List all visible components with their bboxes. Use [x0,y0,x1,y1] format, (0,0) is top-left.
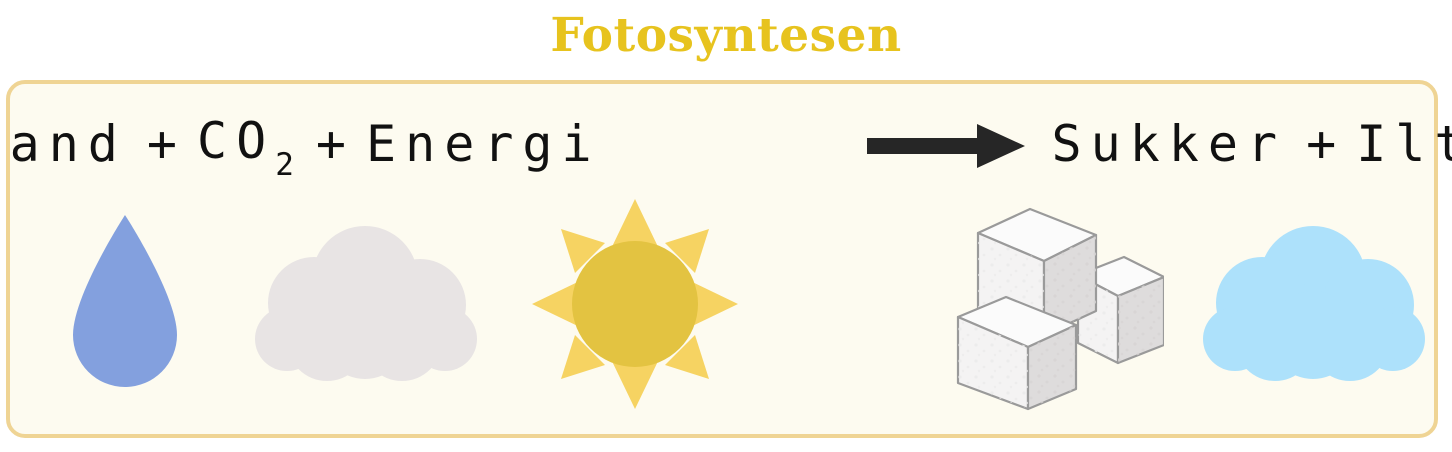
oxygen-icon-slot [1195,184,1430,424]
oxygen-cloud-icon [1200,223,1426,385]
icon-row [10,184,1434,434]
equation-plus-1: + [127,115,197,173]
sun-icon-slot [515,184,755,424]
reactant-water-label: Vand [0,115,127,173]
photosynthesis-equation: Vand + CO2 + Energi Sukker + Ilt [10,108,1434,180]
co2-subscript: 2 [275,147,296,183]
water-drop-icon [65,209,185,399]
photosynthesis-diagram: Fotosyntesen Vand + CO2 + Energi Sukker … [0,0,1452,452]
water-icon-slot [30,184,220,424]
carbon-dioxide-cloud-icon [252,223,478,385]
page-title: Fotosyntesen [0,6,1452,66]
product-sugar-label: Sukker [1051,115,1286,173]
reactant-energy-label: Energi [366,115,601,173]
sugar-icon-slot [945,184,1175,424]
sun-icon [528,195,742,413]
co2-icon-slot [250,184,480,424]
sugar-cubes-icon [956,197,1164,411]
equation-plus-3: + [1286,115,1356,173]
equation-plus-2: + [296,115,366,173]
reaction-arrow-icon [627,118,1026,174]
reactant-co2-label: CO2 [197,112,296,177]
equation-panel: Vand + CO2 + Energi Sukker + Ilt [6,80,1438,438]
co2-base: CO [197,112,275,170]
product-oxygen-label: Ilt [1356,115,1452,173]
